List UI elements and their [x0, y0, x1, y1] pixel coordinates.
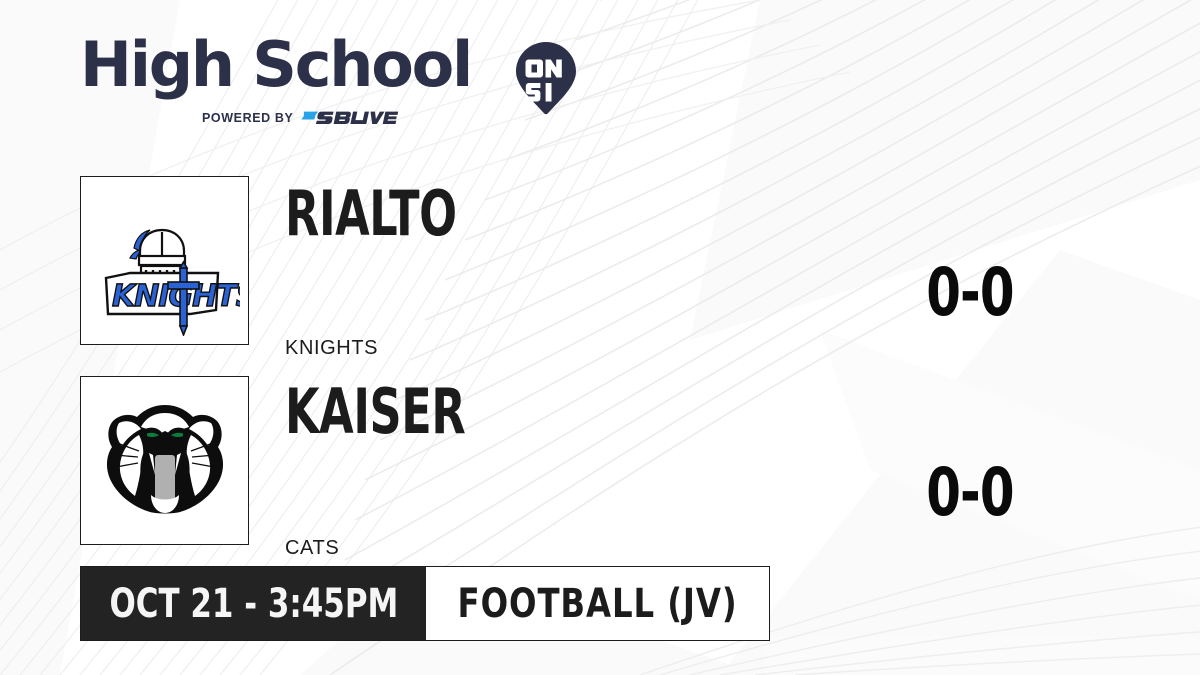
team-name-0: RIALTO: [285, 183, 457, 245]
powered-by-label: POWERED BY: [202, 111, 293, 125]
team-mascot-0: KNIGHTS: [285, 338, 378, 358]
brand-header: High School POWERED BY: [80, 34, 520, 134]
brand-wordmark: High School: [80, 34, 520, 96]
powered-by-row: POWERED BY: [202, 110, 410, 125]
team-record-0: 0-0: [894, 260, 1045, 326]
team-name-1: KAISER: [285, 381, 465, 443]
team-logo-box-1: [80, 376, 249, 545]
wildcat-head-logo: [95, 391, 235, 531]
team-mascot-1: CATS: [285, 538, 339, 558]
team-logo-box-0: KNIGHTS: [80, 176, 249, 345]
game-datetime-block: OCT 21 - 3:45PM: [81, 567, 426, 640]
game-datetime-text: OCT 21 - 3:45PM: [109, 584, 398, 624]
game-sport-text: FOOTBALL (JV): [458, 584, 738, 624]
sblive-bolt-icon: [300, 110, 410, 125]
knights-helmet-logo: KNIGHTS: [90, 186, 240, 336]
team-record-1: 0-0: [894, 460, 1045, 526]
game-sport-block: FOOTBALL (JV): [426, 567, 769, 640]
location-pin-icon: [514, 40, 578, 116]
game-info-bar: OCT 21 - 3:45PM FOOTBALL (JV): [80, 566, 770, 641]
